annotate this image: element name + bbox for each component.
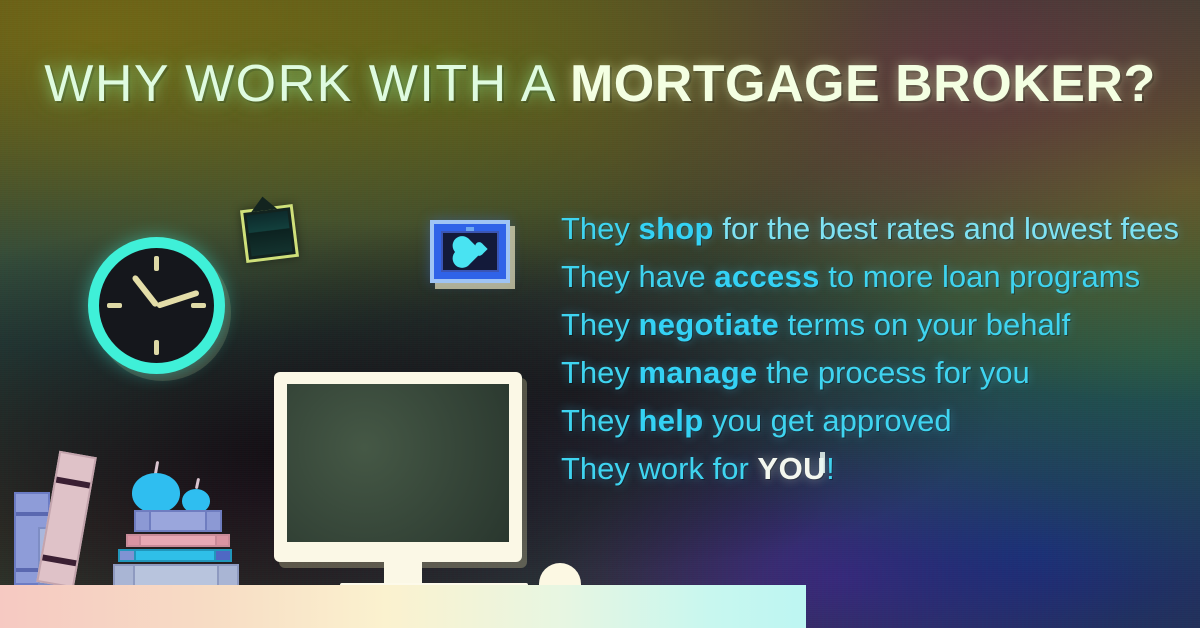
benefit-keyword: negotiate — [639, 307, 780, 342]
benefit-suffix: to more loan programs — [820, 259, 1140, 294]
benefit-prefix: They — [561, 403, 639, 438]
list-item: They negotiate terms on your behalf — [561, 301, 1181, 349]
stack-book-3-edge — [214, 549, 232, 562]
desktop-monitor-icon — [274, 372, 522, 562]
page-title-light: WHY WORK WITH A — [44, 55, 570, 113]
benefit-suffix: for the best rates and lowest fees — [714, 211, 1179, 246]
benefit-suffix: ! — [826, 451, 835, 486]
benefit-prefix: They — [561, 355, 639, 390]
benefit-suffix: terms on your behalf — [779, 307, 1070, 342]
page-title-bold: MORTGAGE BROKER? — [570, 55, 1156, 113]
list-item: They help you get approved — [561, 397, 1181, 445]
apple-icon-large — [132, 473, 180, 513]
clock-tick-12 — [154, 256, 159, 271]
list-item: They manage the process for you — [561, 349, 1181, 397]
screen-glare — [287, 384, 509, 542]
benefit-prefix: They — [561, 211, 639, 246]
book-band — [42, 554, 77, 566]
benefit-keyword: manage — [639, 355, 758, 390]
benefit-keyword: shop — [639, 211, 714, 246]
stack-book-2-edge — [215, 534, 230, 547]
clock-tick-6 — [154, 340, 159, 355]
stack-book-1-edge — [134, 510, 151, 532]
monitor-screen — [287, 384, 509, 542]
clock-hour-hand — [131, 274, 159, 308]
frame-pane — [247, 211, 293, 257]
stack-book-3-edge — [118, 549, 136, 562]
blue-heart-picture-frame-icon — [430, 220, 510, 283]
desk-surface — [0, 585, 806, 628]
benefit-keyword: YOU — [757, 451, 826, 486]
wall-clock-icon — [88, 237, 225, 374]
benefit-suffix: you get approved — [703, 403, 951, 438]
benefit-suffix: the process for you — [758, 355, 1030, 390]
page-title: WHY WORK WITH A MORTGAGE BROKER? — [0, 58, 1200, 110]
benefit-prefix: They work for — [561, 451, 757, 486]
stack-book-1-edge — [205, 510, 222, 532]
book-band — [56, 477, 91, 489]
clock-tick-9 — [107, 303, 122, 308]
list-item: They shop for the best rates and lowest … — [561, 205, 1181, 253]
dark-picture-frame-icon — [240, 204, 299, 263]
list-item: They work for YOU! — [561, 445, 1181, 493]
stack-book-2-edge — [126, 534, 141, 547]
small-heart-icon — [476, 243, 487, 254]
book-band — [16, 512, 48, 516]
benefit-keyword: access — [714, 259, 819, 294]
list-item: They have access to more loan programs — [561, 253, 1181, 301]
benefit-list: They shop for the best rates and lowest … — [561, 205, 1181, 493]
benefit-keyword: help — [639, 403, 704, 438]
clock-tick-3 — [191, 303, 206, 308]
poster-canvas: WHY WORK WITH A MORTGAGE BROKER? They sh… — [0, 0, 1200, 628]
benefit-prefix: They have — [561, 259, 714, 294]
frame-peak-shape — [250, 195, 278, 212]
frame-pane — [441, 231, 499, 272]
benefit-prefix: They — [561, 307, 639, 342]
stray-mark — [820, 452, 825, 473]
